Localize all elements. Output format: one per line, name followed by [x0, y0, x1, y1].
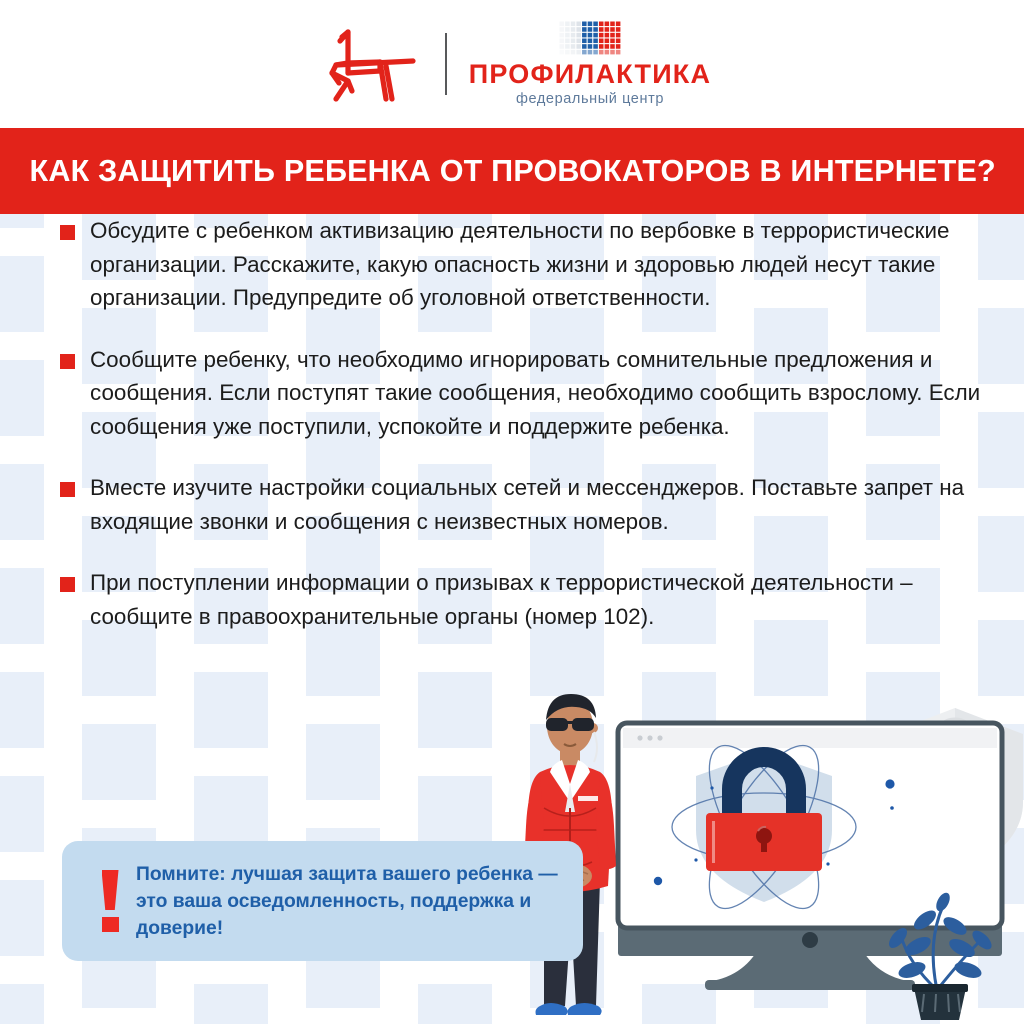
profilaktika-logo: ПРОФИЛАКТИКА федеральный центр: [469, 21, 711, 107]
background-tile: [194, 984, 268, 1024]
background-tile: [0, 776, 44, 852]
background-tile: [0, 672, 44, 748]
exclamation-bar: [102, 870, 119, 910]
russian-flag-grid-logo: [559, 21, 621, 55]
callout-text: Помните: лучшая защита вашего ребенка — …: [136, 861, 583, 942]
title-band: КАК ЗАЩИТИТЬ РЕБЕНКА ОТ ПРОВОКАТОРОВ В И…: [0, 128, 1024, 214]
bullet-square-icon: [60, 577, 75, 592]
stick-horse-logo: [313, 21, 433, 107]
background-tile: [418, 672, 492, 748]
browser-window-dots: [637, 735, 662, 740]
list-item: При поступлении информации о призывах к …: [0, 566, 1024, 633]
logo-divider: [445, 33, 447, 95]
background-tile: [418, 984, 492, 1024]
background-tile: [194, 672, 268, 748]
exclamation-dot: [102, 917, 119, 932]
advice-text: Обсудите с ребенком активизацию деятельн…: [90, 214, 990, 315]
background-tile: [0, 984, 44, 1024]
advice-text: При поступлении информации о призывах к …: [90, 566, 990, 633]
advice-list: Обсудите с ребенком активизацию деятельн…: [0, 214, 1024, 661]
page-title: КАК ЗАЩИТИТЬ РЕБЕНКА ОТ ПРОВОКАТОРОВ В И…: [0, 153, 996, 189]
bullet-square-icon: [60, 225, 75, 240]
bullet-square-icon: [60, 482, 75, 497]
advice-text: Вместе изучите настройки социальных сете…: [90, 471, 990, 538]
list-item: Обсудите с ребенком активизацию деятельн…: [0, 214, 1024, 315]
background-tile: [82, 724, 156, 800]
list-item: Вместе изучите настройки социальных сете…: [0, 471, 1024, 538]
list-item: Сообщите ребенку, что необходимо игнорир…: [0, 343, 1024, 444]
advice-text: Сообщите ребенку, что необходимо игнорир…: [90, 343, 990, 444]
background-tile: [306, 724, 380, 800]
exclamation-mark-icon: [84, 870, 136, 932]
infographic-poster: ПРОФИЛАКТИКА федеральный центр КАК ЗАЩИТ…: [0, 0, 1024, 1024]
brand-subtitle: федеральный центр: [516, 92, 664, 107]
brand-name: ПРОФИЛАКТИКА: [469, 61, 711, 88]
callout-box: Помните: лучшая защита вашего ребенка — …: [62, 841, 583, 961]
header: ПРОФИЛАКТИКА федеральный центр: [0, 0, 1024, 128]
background-tile: [0, 880, 44, 956]
bullet-square-icon: [60, 354, 75, 369]
